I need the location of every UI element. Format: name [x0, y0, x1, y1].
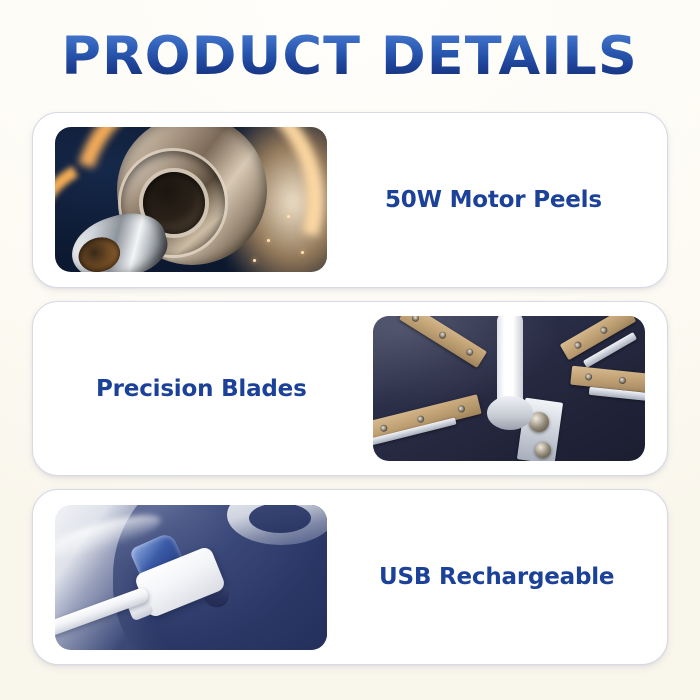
- blade-disc-photo: [373, 316, 645, 461]
- blade-screw: [535, 442, 551, 458]
- page-title-container: PRODUCT DETAILS: [0, 0, 700, 112]
- motor-closeup-photo: [55, 127, 327, 272]
- usb-charging-photo: [55, 505, 327, 650]
- page-title: PRODUCT DETAILS: [62, 30, 638, 83]
- feature-card-blades[interactable]: Precision Blades: [32, 301, 668, 477]
- feature-label-motor: 50W Motor Peels: [385, 187, 602, 213]
- feature-card-motor[interactable]: 50W Motor Peels: [32, 112, 668, 288]
- product-details-infographic: PRODUCT DETAILS 50W Motor Peels Precis: [0, 0, 700, 700]
- feature-card-list: 50W Motor Peels Precision Blades: [0, 112, 700, 700]
- feature-card-usb[interactable]: USB Rechargeable: [32, 489, 668, 665]
- white-center-post: [497, 316, 523, 416]
- feature-label-usb: USB Rechargeable: [379, 564, 614, 590]
- feature-label-blades: Precision Blades: [96, 376, 307, 402]
